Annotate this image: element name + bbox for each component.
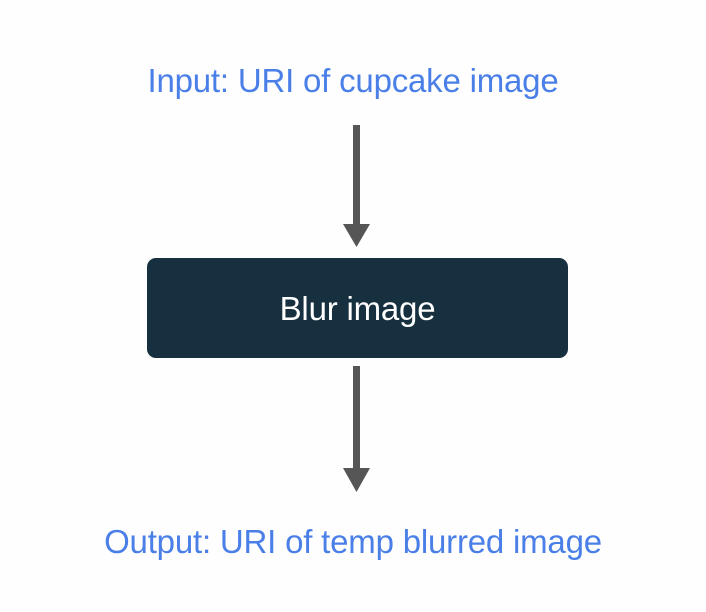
diagram-canvas: Input: URI of cupcake image Blur image O… [0, 0, 706, 612]
input-node-label: Input: URI of cupcake image [0, 61, 706, 101]
output-node-label: Output: URI of temp blurred image [0, 522, 706, 562]
process-node-blur-image[interactable]: Blur image [147, 258, 568, 358]
process-node-label: Blur image [280, 292, 436, 325]
edge-input-to-process-arrowhead [343, 224, 370, 247]
edge-process-to-output-arrowhead [343, 468, 370, 492]
